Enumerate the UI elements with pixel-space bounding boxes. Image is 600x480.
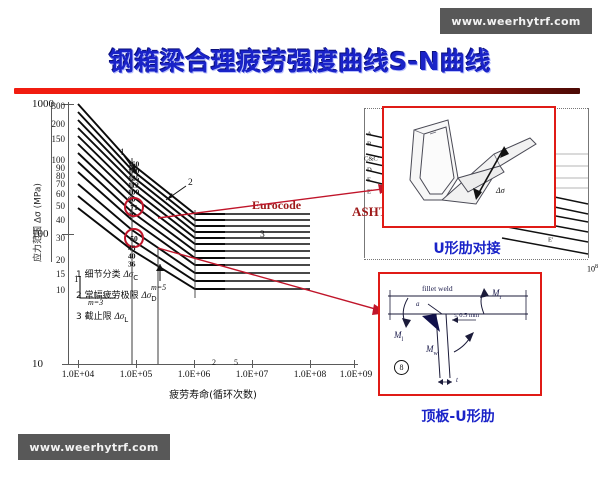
aashto-left-cat-B: B	[367, 141, 371, 148]
annotation-1: 1	[120, 148, 125, 158]
legend-num-3: 3	[76, 312, 82, 322]
moment-web-label: Mw	[426, 344, 438, 357]
aashto-axis-end: 108	[587, 264, 598, 274]
aashto-axis-exp: 8	[595, 264, 598, 270]
x-tick-1e8: 1.0E+08	[294, 370, 327, 380]
aashto-axis-end-value: 10	[587, 265, 595, 274]
thickness-label: t	[456, 376, 458, 384]
moment-left-label: Ml	[394, 330, 403, 343]
fillet-weld-label: fillet weld	[422, 284, 453, 293]
moment-right-label: Mr	[492, 288, 502, 301]
x-tick-mark	[310, 360, 311, 368]
moment-right-symbol: M	[492, 288, 500, 298]
moment-left-symbol: M	[394, 330, 402, 340]
x-tick-1e6: 1.0E+06	[178, 370, 211, 380]
legend-item-1: 1 细节分类 ΔσC	[76, 266, 157, 287]
stress-range-symbol: Δσ	[496, 186, 505, 195]
aashto-left-cat-CCp: C&C'	[364, 156, 379, 163]
callout-caption-deck-urib: 顶板-U形肋	[378, 406, 538, 426]
moment-left-sub: l	[402, 337, 404, 343]
eurocode-sn-chart: 1000 100 10 300 200 150 100 90 80 70 60 …	[20, 98, 365, 398]
x-tick-mark	[136, 360, 137, 368]
legend-symbol-3: Δσ	[115, 311, 125, 321]
aashto-left-cat-E: E	[367, 177, 371, 184]
x-tick-1e9: 1.0E+09	[340, 370, 373, 380]
x-tick-1e7: 1.0E+07	[236, 370, 269, 380]
legend-item-3: 3 截止限 ΔσL	[76, 308, 157, 329]
x-minor-2: 2	[212, 358, 216, 367]
x-tick-mark	[194, 360, 195, 368]
legend-sub-2: D	[151, 295, 156, 303]
legend-sub-1: C	[133, 274, 138, 282]
throat-label: a	[416, 300, 420, 308]
title-divider	[14, 88, 580, 94]
x-minor-5: 5	[234, 358, 238, 367]
sn-curve-bundle	[20, 98, 365, 398]
page-title: 钢箱梁合理疲劳强度曲线S-N曲线	[0, 42, 600, 78]
x-tick-mark	[78, 360, 79, 368]
slide-canvas: www.weerhytrf.com www.weerhytrf.com 钢箱梁合…	[0, 0, 600, 480]
callout-box-deck-urib[interactable]: fillet weld a ≤ 0.5 mm Ml Mr Mw t 8	[378, 272, 542, 396]
annotation-3: 3	[260, 230, 265, 240]
legend-symbol-1: Δσ	[124, 269, 134, 279]
legend-sub-3: L	[124, 315, 128, 323]
legend-num-2: 2	[76, 291, 82, 301]
eurocode-label: Eurocode	[252, 198, 301, 213]
annotation-2: 2	[188, 178, 193, 188]
legend-symbol-2: Δσ	[142, 290, 152, 300]
aashto-left-cat-Ep: E'	[367, 189, 372, 196]
aashto-left-cat-A: A	[367, 131, 372, 138]
detail-cat-71-highlight[interactable]: 71	[124, 197, 144, 217]
legend-item-2: 2 常幅疲劳极限 ΔσD	[76, 287, 157, 308]
x-axis-label: 疲劳寿命(循环次数)	[68, 386, 358, 401]
legend-text-3: 截止限	[85, 312, 112, 322]
chart-legend: 1 细节分类 ΔσC 2 常幅疲劳极限 ΔσD 3 截止限 ΔσL	[76, 266, 157, 328]
detail-index-badge: 8	[394, 360, 409, 375]
legend-num-1: 1	[76, 270, 82, 280]
x-tick-mark	[252, 360, 253, 368]
x-tick-mark	[354, 360, 355, 368]
gap-note: ≤ 0.5 mm	[454, 312, 479, 319]
callout-box-u-rib[interactable]: Δσ	[382, 106, 556, 228]
callout-caption-u-rib: U形肋对接	[382, 238, 552, 258]
watermark-top: www.weerhytrf.com	[440, 8, 592, 34]
moment-web-symbol: M	[426, 344, 434, 354]
legend-text-1: 细节分类	[85, 270, 121, 280]
u-rib-3d-drawing	[384, 108, 550, 222]
x-tick-1e4: 1.0E+04	[62, 370, 95, 380]
aashto-left-cat-D: D	[367, 167, 372, 174]
x-tick-1e5: 1.0E+05	[120, 370, 153, 380]
legend-text-2: 常幅疲劳极限	[85, 291, 139, 301]
moment-right-sub: r	[500, 295, 502, 301]
watermark-bottom: www.weerhytrf.com	[18, 434, 170, 460]
moment-web-sub: w	[434, 351, 438, 357]
